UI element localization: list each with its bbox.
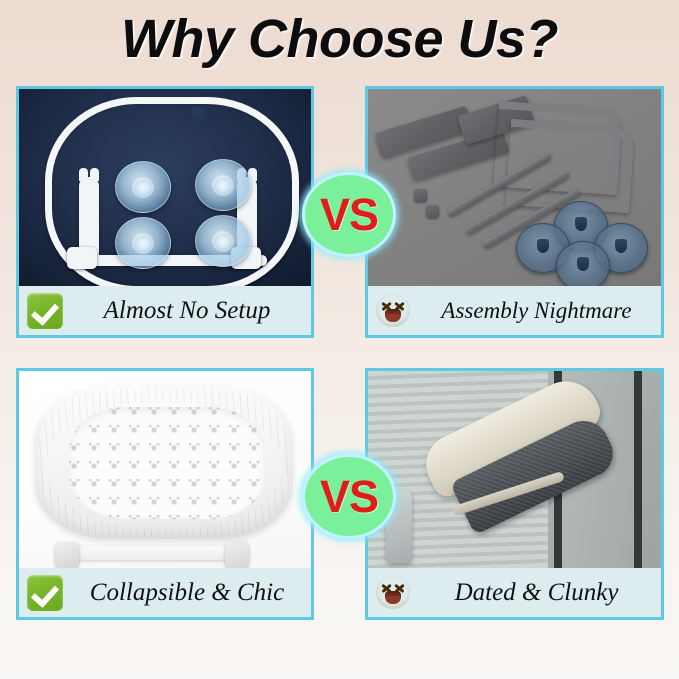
- panel-caption-bar: Assembly Nightmare: [368, 286, 661, 335]
- bed-cushion: [69, 407, 265, 519]
- panel-caption-label: Dated & Clunky: [418, 579, 661, 607]
- perch-foot-left: [67, 247, 97, 269]
- panel-caption-bar: Almost No Setup: [19, 286, 311, 335]
- bed-mount-clip: [55, 542, 79, 568]
- paw-print-pattern: [69, 407, 265, 519]
- green-check-icon: [27, 575, 63, 611]
- product-photo-perch-frame: [19, 89, 311, 286]
- suction-cup: [115, 217, 171, 269]
- product-photo-disassembled-parts: [368, 89, 661, 286]
- green-check-icon: [27, 293, 63, 329]
- panel-caption-label: Almost No Setup: [69, 297, 311, 325]
- hardware-nut: [426, 205, 439, 218]
- window-mullion: [634, 371, 642, 568]
- vs-badge-label: VS: [320, 192, 378, 237]
- comparison-panel-bottom-right: Dated & Clunky: [365, 368, 664, 620]
- bed-support-bar: [67, 546, 239, 560]
- suction-cup: [195, 159, 251, 211]
- hardware-nut: [414, 189, 427, 202]
- vs-badge-label: VS: [320, 474, 378, 519]
- comparison-panel-top-right: Assembly Nightmare: [365, 86, 664, 338]
- vs-badge-top: VS: [302, 172, 396, 257]
- suction-cup: [115, 161, 171, 213]
- product-photo-ruffled-bed: [19, 371, 311, 568]
- infographic-canvas: Why Choose Us? Almost No Setup: [0, 0, 679, 679]
- suction-cup: [195, 215, 251, 267]
- panel-caption-bar: Collapsible & Chic: [19, 568, 311, 617]
- panel-caption-label: Assembly Nightmare: [418, 298, 661, 324]
- page-title: Why Choose Us?: [0, 8, 679, 70]
- comparison-panel-top-left: Almost No Setup: [16, 86, 314, 338]
- cat-ear-icon: [79, 168, 88, 181]
- hoop-joint-gap: [190, 107, 204, 121]
- panel-caption-label: Collapsible & Chic: [69, 579, 311, 607]
- vs-badge-bottom: VS: [302, 454, 396, 539]
- product-photo-dated-hammock: [368, 371, 661, 568]
- bed-mount-clip: [225, 542, 249, 568]
- suction-cup: [556, 241, 610, 286]
- comparison-panel-bottom-left: Collapsible & Chic: [16, 368, 314, 620]
- tired-face-emoji-icon: [376, 293, 412, 329]
- collapsible-cat-bed: [35, 385, 293, 539]
- cat-ear-icon: [90, 168, 99, 181]
- tired-face-emoji-icon: [376, 575, 412, 611]
- panel-caption-bar: Dated & Clunky: [368, 568, 661, 617]
